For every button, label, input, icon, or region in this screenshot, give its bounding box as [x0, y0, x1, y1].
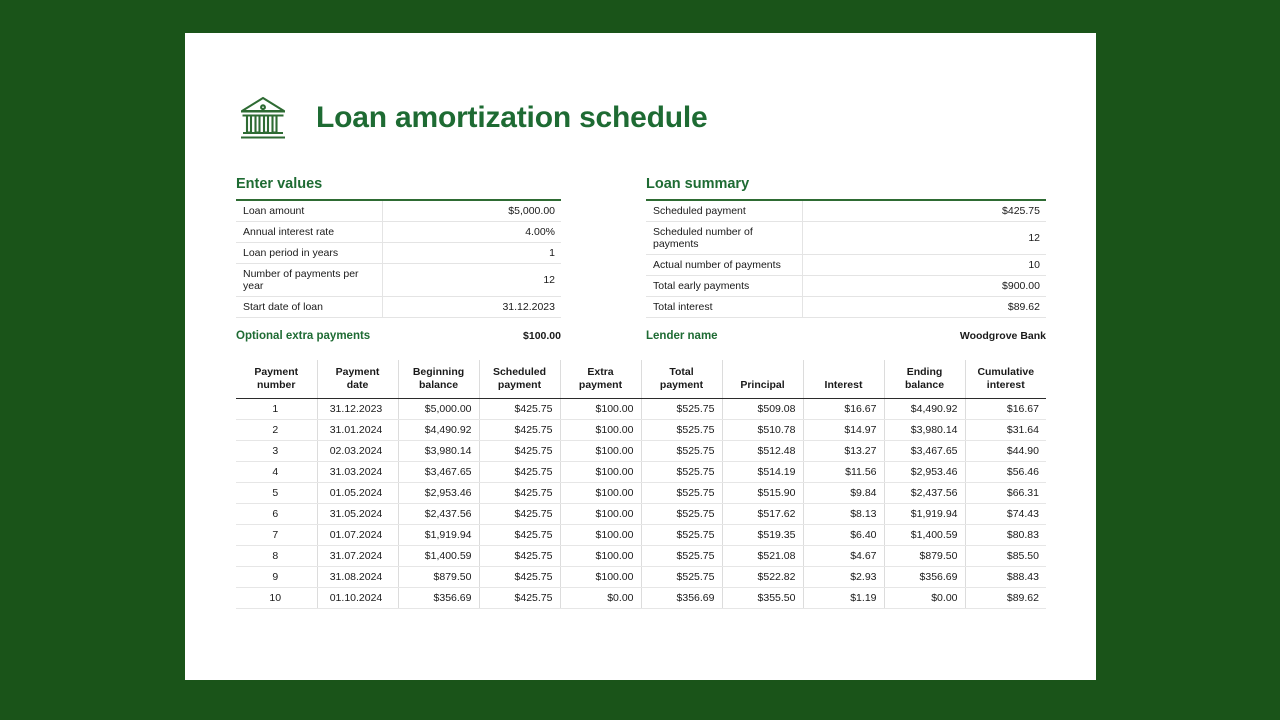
table-cell: $2,953.46	[398, 482, 479, 503]
loan-summary-value: $900.00	[802, 276, 1046, 297]
table-cell: $100.00	[560, 461, 641, 482]
table-row: Annual interest rate 4.00%	[236, 222, 561, 243]
table-cell: 7	[236, 524, 317, 545]
table-cell: $425.75	[479, 419, 560, 440]
table-cell: $5,000.00	[398, 398, 479, 419]
table-cell: $525.75	[641, 524, 722, 545]
table-cell: $425.75	[479, 461, 560, 482]
table-cell: $425.75	[479, 545, 560, 566]
enter-values-input[interactable]: 12	[382, 264, 561, 297]
enter-values-label: Start date of loan	[236, 297, 382, 318]
table-cell: $1,400.59	[398, 545, 479, 566]
lender-name-value[interactable]: Woodgrove Bank	[960, 330, 1046, 342]
column-header-total-payment[interactable]: Total payment	[641, 360, 722, 398]
table-cell: $879.50	[398, 566, 479, 587]
table-cell: $85.50	[965, 545, 1046, 566]
table-row: 931.08.2024$879.50$425.75$100.00$525.75$…	[236, 566, 1046, 587]
table-row: Start date of loan 31.12.2023	[236, 297, 561, 318]
table-row: 501.05.2024$2,953.46$425.75$100.00$525.7…	[236, 482, 1046, 503]
table-cell: $100.00	[560, 524, 641, 545]
table-cell: $56.46	[965, 461, 1046, 482]
table-cell: $512.48	[722, 440, 803, 461]
enter-values-input[interactable]: 31.12.2023	[382, 297, 561, 318]
table-row: 1001.10.2024$356.69$425.75$0.00$356.69$3…	[236, 587, 1046, 608]
table-cell: $16.67	[803, 398, 884, 419]
loan-summary-label: Scheduled number of payments	[646, 222, 802, 255]
table-cell: $425.75	[479, 398, 560, 419]
table-cell: $31.64	[965, 419, 1046, 440]
table-cell: $1,919.94	[884, 503, 965, 524]
optional-extra-payments-row: Optional extra payments $100.00	[236, 330, 561, 342]
table-cell: $515.90	[722, 482, 803, 503]
table-cell: $356.69	[884, 566, 965, 587]
table-cell: $0.00	[560, 587, 641, 608]
table-row: Number of payments per year 12	[236, 264, 561, 297]
table-cell: $522.82	[722, 566, 803, 587]
table-cell: $1,400.59	[884, 524, 965, 545]
table-cell: $425.75	[479, 440, 560, 461]
amortization-schedule-table: Payment number Payment date Beginning ba…	[236, 360, 1046, 609]
schedule-header-row: Payment number Payment date Beginning ba…	[236, 360, 1046, 398]
table-cell: $3,467.65	[884, 440, 965, 461]
table-cell: $16.67	[965, 398, 1046, 419]
table-cell: $425.75	[479, 482, 560, 503]
table-cell: $100.00	[560, 398, 641, 419]
column-header-extra-payment[interactable]: Extra payment	[560, 360, 641, 398]
table-cell: 02.03.2024	[317, 440, 398, 461]
table-cell: 31.05.2024	[317, 503, 398, 524]
table-cell: $100.00	[560, 440, 641, 461]
loan-summary-table: Scheduled payment $425.75 Scheduled numb…	[646, 199, 1046, 318]
table-cell: $4.67	[803, 545, 884, 566]
table-cell: 3	[236, 440, 317, 461]
enter-values-input[interactable]: 1	[382, 243, 561, 264]
table-cell: $2,437.56	[398, 503, 479, 524]
table-cell: $88.43	[965, 566, 1046, 587]
table-row: 302.03.2024$3,980.14$425.75$100.00$525.7…	[236, 440, 1046, 461]
table-cell: $100.00	[560, 566, 641, 587]
table-cell: $100.00	[560, 482, 641, 503]
lender-name-row: Lender name Woodgrove Bank	[646, 330, 1046, 342]
table-cell: $525.75	[641, 503, 722, 524]
table-cell: $425.75	[479, 524, 560, 545]
table-row: Loan amount $5,000.00	[236, 200, 561, 222]
table-cell: $74.43	[965, 503, 1046, 524]
enter-values-input[interactable]: 4.00%	[382, 222, 561, 243]
column-header-ending-balance[interactable]: Ending balance	[884, 360, 965, 398]
table-cell: 31.08.2024	[317, 566, 398, 587]
table-cell: $517.62	[722, 503, 803, 524]
table-cell: $3,980.14	[884, 419, 965, 440]
table-cell: 01.05.2024	[317, 482, 398, 503]
table-cell: $425.75	[479, 503, 560, 524]
table-cell: $14.97	[803, 419, 884, 440]
table-row: 631.05.2024$2,437.56$425.75$100.00$525.7…	[236, 503, 1046, 524]
table-row: 831.07.2024$1,400.59$425.75$100.00$525.7…	[236, 545, 1046, 566]
table-cell: $514.19	[722, 461, 803, 482]
table-cell: $80.83	[965, 524, 1046, 545]
table-cell: $11.56	[803, 461, 884, 482]
table-row: Total early payments $900.00	[646, 276, 1046, 297]
column-header-payment-number[interactable]: Payment number	[236, 360, 317, 398]
table-cell: $100.00	[560, 419, 641, 440]
table-cell: $356.69	[641, 587, 722, 608]
table-row: Loan period in years 1	[236, 243, 561, 264]
column-header-principal[interactable]: Principal	[722, 360, 803, 398]
table-cell: 01.10.2024	[317, 587, 398, 608]
table-cell: $525.75	[641, 482, 722, 503]
table-cell: $89.62	[965, 587, 1046, 608]
table-cell: 01.07.2024	[317, 524, 398, 545]
page-header: Loan amortization schedule	[236, 91, 708, 145]
lender-name-label: Lender name	[646, 330, 718, 342]
table-cell: $510.78	[722, 419, 803, 440]
optional-extra-payments-label: Optional extra payments	[236, 330, 370, 342]
table-cell: $525.75	[641, 545, 722, 566]
column-header-interest[interactable]: Interest	[803, 360, 884, 398]
table-cell: $9.84	[803, 482, 884, 503]
table-cell: $356.69	[398, 587, 479, 608]
enter-values-section: Enter values Loan amount $5,000.00 Annua…	[236, 176, 561, 342]
table-cell: 5	[236, 482, 317, 503]
table-row: Actual number of payments 10	[646, 255, 1046, 276]
loan-summary-value: $425.75	[802, 200, 1046, 222]
table-cell: $425.75	[479, 566, 560, 587]
column-header-cumulative-interest[interactable]: Cumulative interest	[965, 360, 1046, 398]
amortization-schedule-section: Payment number Payment date Beginning ba…	[236, 360, 1046, 609]
table-cell: $521.08	[722, 545, 803, 566]
table-cell: $3,980.14	[398, 440, 479, 461]
table-cell: $879.50	[884, 545, 965, 566]
table-cell: 31.03.2024	[317, 461, 398, 482]
loan-summary-label: Total interest	[646, 297, 802, 318]
table-cell: 10	[236, 587, 317, 608]
column-header-payment-date[interactable]: Payment date	[317, 360, 398, 398]
table-cell: $519.35	[722, 524, 803, 545]
column-header-scheduled-payment[interactable]: Scheduled payment	[479, 360, 560, 398]
loan-summary-label: Actual number of payments	[646, 255, 802, 276]
table-cell: 8	[236, 545, 317, 566]
table-cell: 31.07.2024	[317, 545, 398, 566]
loan-summary-value: 10	[802, 255, 1046, 276]
table-cell: $1.19	[803, 587, 884, 608]
table-cell: 31.01.2024	[317, 419, 398, 440]
enter-values-label: Number of payments per year	[236, 264, 382, 297]
table-cell: $525.75	[641, 398, 722, 419]
table-cell: 31.12.2023	[317, 398, 398, 419]
table-cell: $1,919.94	[398, 524, 479, 545]
loan-summary-label: Total early payments	[646, 276, 802, 297]
table-cell: $4,490.92	[398, 419, 479, 440]
table-cell: $44.90	[965, 440, 1046, 461]
table-cell: $8.13	[803, 503, 884, 524]
table-cell: $525.75	[641, 440, 722, 461]
table-row: 431.03.2024$3,467.65$425.75$100.00$525.7…	[236, 461, 1046, 482]
table-cell: 4	[236, 461, 317, 482]
table-row: Total interest $89.62	[646, 297, 1046, 318]
table-cell: $425.75	[479, 587, 560, 608]
table-cell: $2.93	[803, 566, 884, 587]
loan-summary-value: 12	[802, 222, 1046, 255]
enter-values-label: Annual interest rate	[236, 222, 382, 243]
table-cell: 6	[236, 503, 317, 524]
table-cell: $509.08	[722, 398, 803, 419]
table-cell: 2	[236, 419, 317, 440]
column-header-beginning-balance[interactable]: Beginning balance	[398, 360, 479, 398]
table-cell: $66.31	[965, 482, 1046, 503]
loan-summary-label: Scheduled payment	[646, 200, 802, 222]
table-row: Scheduled payment $425.75	[646, 200, 1046, 222]
table-cell: $2,953.46	[884, 461, 965, 482]
loan-summary-value: $89.62	[802, 297, 1046, 318]
table-cell: $0.00	[884, 587, 965, 608]
table-cell: $525.75	[641, 419, 722, 440]
page-title: Loan amortization schedule	[316, 101, 708, 135]
table-cell: $3,467.65	[398, 461, 479, 482]
table-row: Scheduled number of payments 12	[646, 222, 1046, 255]
table-row: 701.07.2024$1,919.94$425.75$100.00$525.7…	[236, 524, 1046, 545]
loan-summary-section: Loan summary Scheduled payment $425.75 S…	[646, 176, 1046, 342]
table-cell: $4,490.92	[884, 398, 965, 419]
table-cell: $355.50	[722, 587, 803, 608]
table-row: 231.01.2024$4,490.92$425.75$100.00$525.7…	[236, 419, 1046, 440]
enter-values-label: Loan period in years	[236, 243, 382, 264]
optional-extra-payments-value[interactable]: $100.00	[523, 330, 561, 342]
enter-values-label: Loan amount	[236, 200, 382, 222]
enter-values-heading: Enter values	[236, 176, 561, 192]
table-cell: $100.00	[560, 503, 641, 524]
table-cell: $525.75	[641, 566, 722, 587]
table-cell: $100.00	[560, 545, 641, 566]
table-cell: $13.27	[803, 440, 884, 461]
loan-summary-heading: Loan summary	[646, 176, 1046, 192]
schedule-body: 131.12.2023$5,000.00$425.75$100.00$525.7…	[236, 398, 1046, 608]
table-cell: 9	[236, 566, 317, 587]
table-cell: $6.40	[803, 524, 884, 545]
enter-values-input[interactable]: $5,000.00	[382, 200, 561, 222]
bank-icon	[236, 91, 290, 145]
enter-values-table: Loan amount $5,000.00 Annual interest ra…	[236, 199, 561, 318]
worksheet-card: Loan amortization schedule Enter values …	[185, 33, 1096, 680]
table-row: 131.12.2023$5,000.00$425.75$100.00$525.7…	[236, 398, 1046, 419]
table-cell: $2,437.56	[884, 482, 965, 503]
table-cell: $525.75	[641, 461, 722, 482]
table-cell: 1	[236, 398, 317, 419]
